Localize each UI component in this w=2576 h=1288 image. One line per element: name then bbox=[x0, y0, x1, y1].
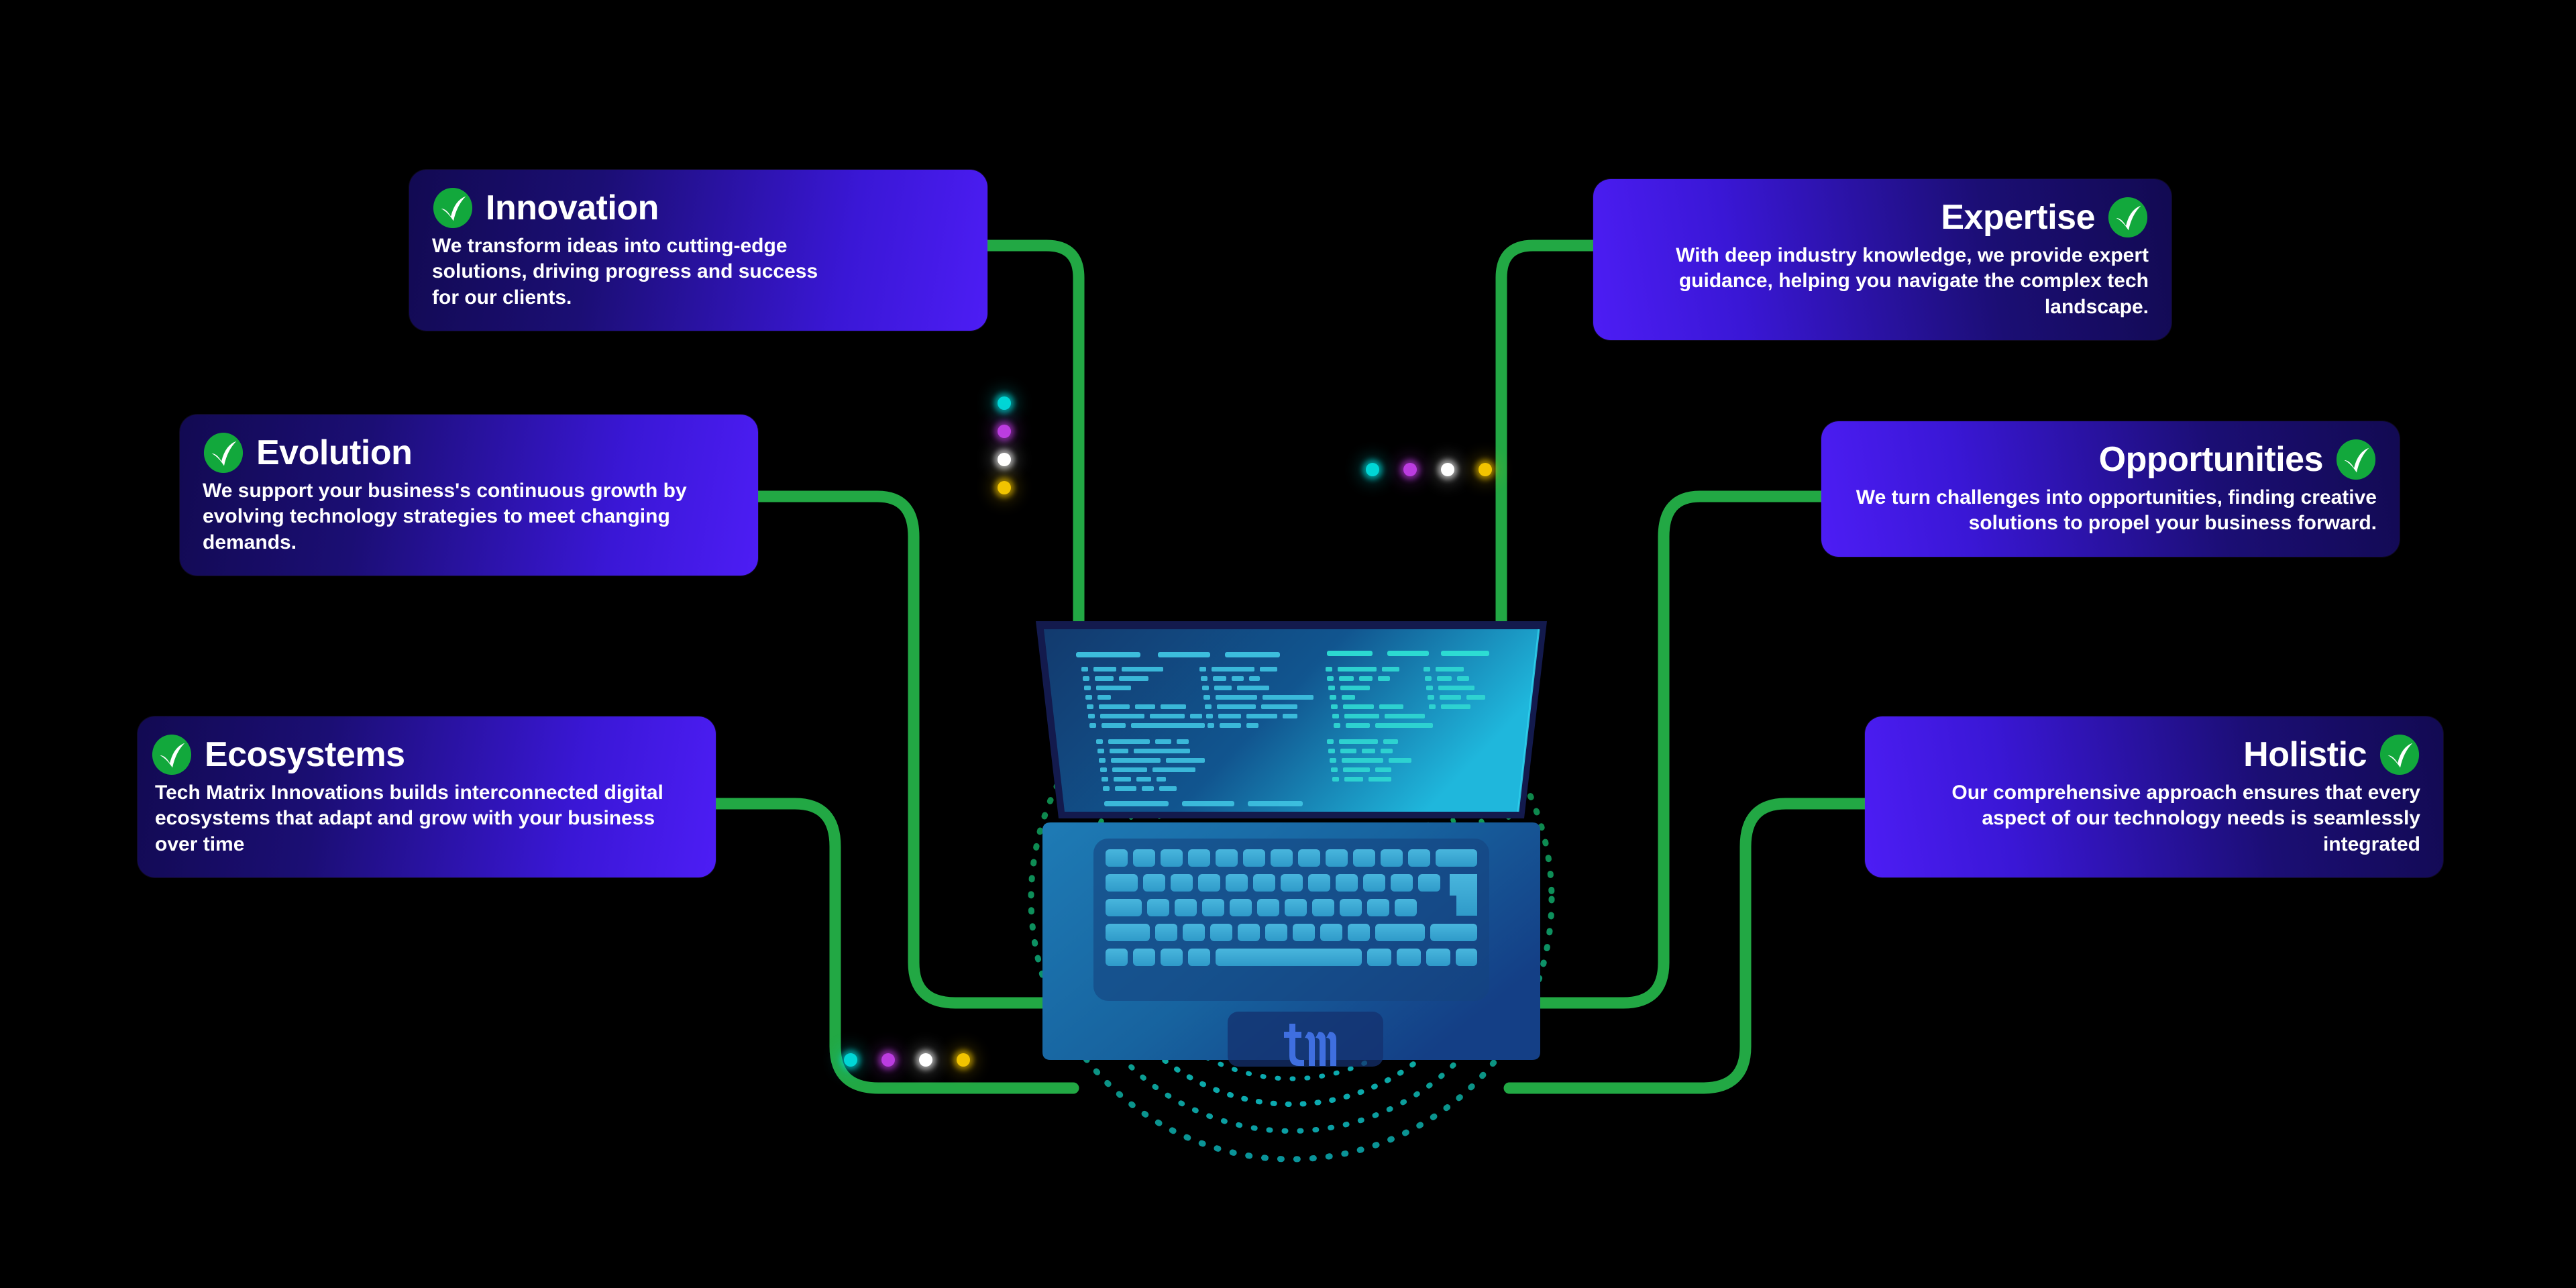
glow-dot-purple bbox=[1403, 463, 1417, 476]
glow-dot-purple bbox=[998, 425, 1011, 438]
connector-opportunities bbox=[1517, 496, 1821, 1003]
glow-dot-white bbox=[998, 453, 1011, 466]
glow-dot-cluster-bottom-left bbox=[832, 1053, 982, 1067]
check-circle-icon bbox=[2335, 439, 2377, 480]
check-circle-icon bbox=[2379, 734, 2420, 775]
glow-dot-white bbox=[1441, 463, 1454, 476]
feature-card-innovation[interactable]: Innovation We transform ideas into cutti… bbox=[409, 170, 987, 331]
glow-dot-white bbox=[919, 1053, 932, 1067]
card-description: Tech Matrix Innovations builds interconn… bbox=[155, 780, 693, 857]
glow-dot-yellow bbox=[957, 1053, 970, 1067]
card-header: Expertise bbox=[1616, 197, 2149, 238]
glow-dot-cyan bbox=[998, 396, 1011, 410]
card-title: Innovation bbox=[486, 190, 659, 227]
feature-card-expertise[interactable]: Expertise With deep industry knowledge, … bbox=[1593, 179, 2171, 340]
check-circle-icon bbox=[151, 734, 193, 775]
card-description: We transform ideas into cutting-edge sol… bbox=[432, 233, 835, 311]
feature-card-ecosystems[interactable]: Ecosystems Tech Matrix Innovations build… bbox=[138, 716, 716, 877]
feature-card-evolution[interactable]: Evolution We support your business's con… bbox=[180, 415, 758, 576]
card-header: Evolution bbox=[203, 432, 735, 474]
glow-dot-cyan bbox=[1366, 463, 1379, 476]
card-header: Ecosystems bbox=[151, 734, 693, 775]
glow-dot-cluster-left bbox=[998, 389, 1011, 502]
glow-dot-yellow bbox=[998, 481, 1011, 494]
card-description: We support your business's continuous gr… bbox=[203, 478, 735, 555]
card-title: Ecosystems bbox=[205, 737, 405, 773]
glow-dot-cyan bbox=[844, 1053, 857, 1067]
card-title: Expertise bbox=[1941, 199, 2095, 236]
card-header: Holistic bbox=[1888, 734, 2420, 775]
feature-card-holistic[interactable]: Holistic Our comprehensive approach ensu… bbox=[1865, 716, 2443, 877]
check-circle-icon bbox=[432, 187, 474, 229]
card-title: Opportunities bbox=[2099, 441, 2323, 478]
connector-ecosystems bbox=[716, 804, 1073, 1088]
infographic-canvas: Innovation We transform ideas into cutti… bbox=[0, 0, 2576, 1288]
connector-evolution bbox=[758, 496, 1063, 1003]
card-description: Our comprehensive approach ensures that … bbox=[1888, 780, 2420, 857]
glow-dot-cluster-center-right bbox=[1354, 463, 1504, 476]
card-header: Opportunities bbox=[1844, 439, 2377, 480]
check-circle-icon bbox=[2107, 197, 2149, 238]
card-title: Evolution bbox=[256, 435, 412, 472]
glow-dot-purple bbox=[881, 1053, 895, 1067]
check-circle-icon bbox=[203, 432, 244, 474]
laptop-trackpad bbox=[1228, 1012, 1383, 1067]
feature-card-opportunities[interactable]: Opportunities We turn challenges into op… bbox=[1821, 421, 2400, 557]
card-description: With deep industry knowledge, we provide… bbox=[1616, 243, 2149, 320]
glow-dot-yellow bbox=[1479, 463, 1492, 476]
connector-holistic bbox=[1509, 804, 1865, 1088]
laptop-illustration bbox=[1026, 617, 1556, 1087]
card-header: Innovation bbox=[432, 187, 965, 229]
card-description: We turn challenges into opportunities, f… bbox=[1844, 485, 2377, 537]
card-title: Holistic bbox=[2243, 737, 2367, 773]
